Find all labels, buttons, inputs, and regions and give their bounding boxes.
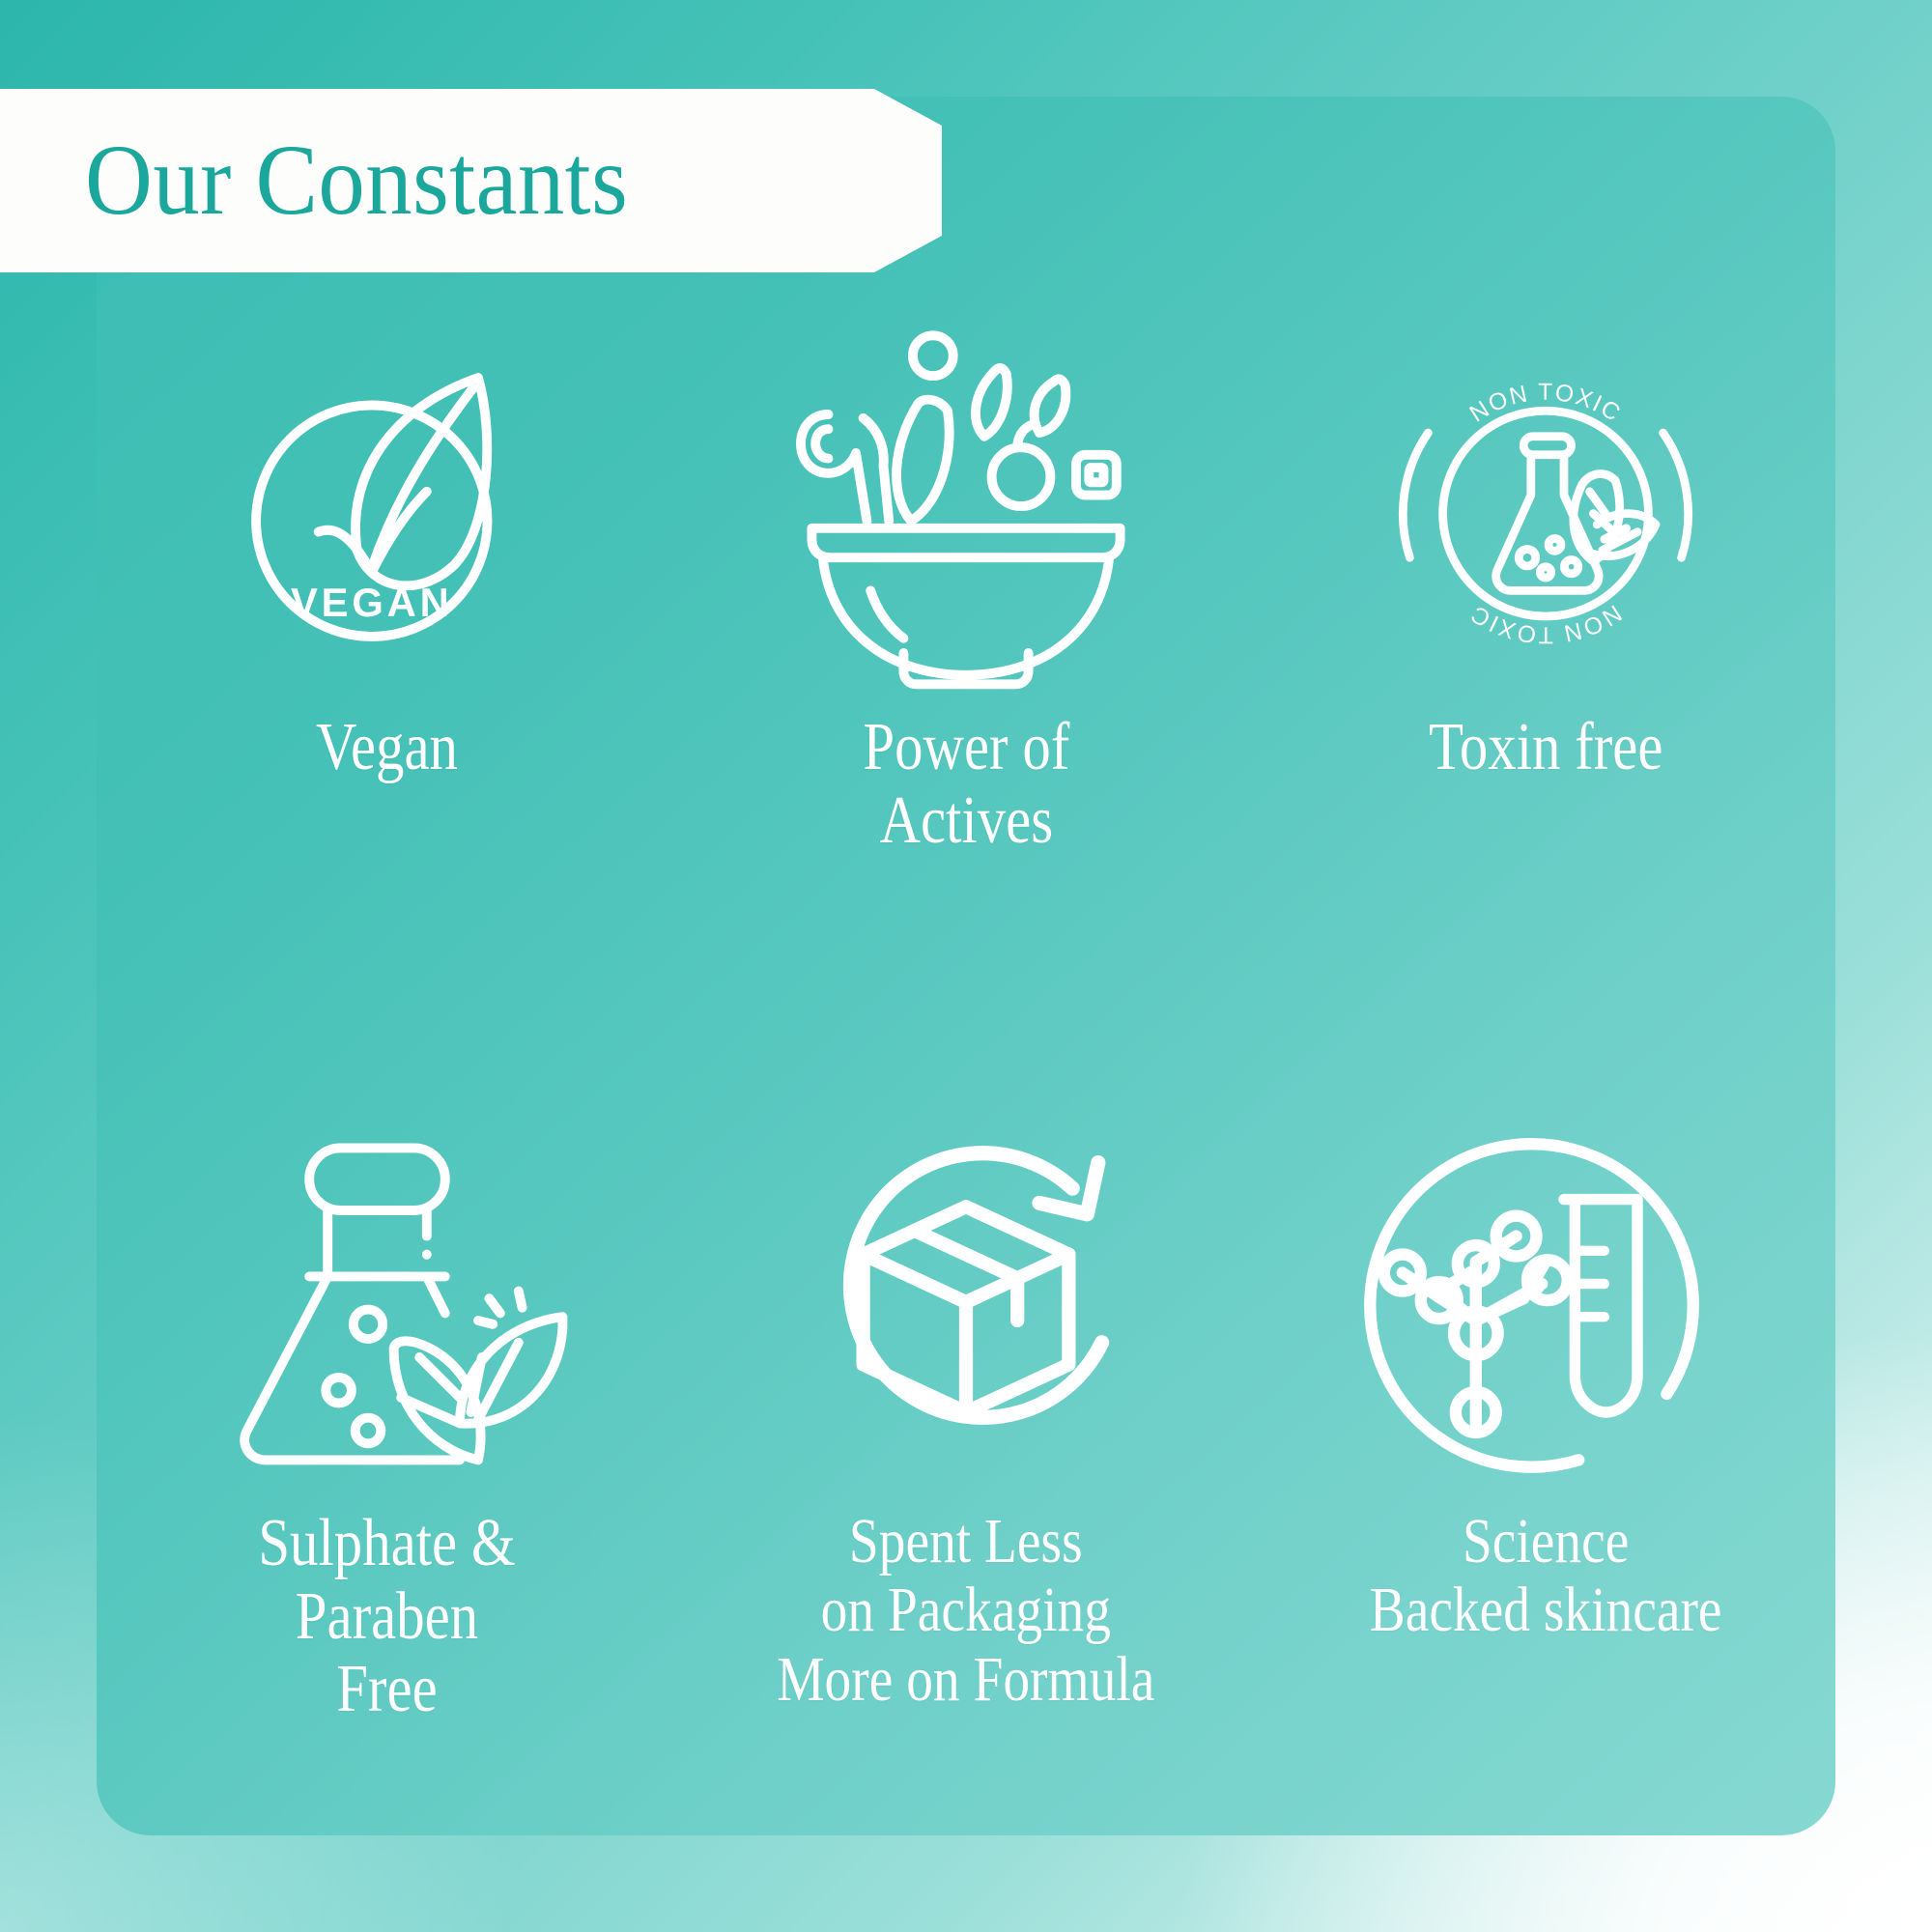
feature-packaging[interactable]: Spent Less on Packaging More on Formula <box>676 1043 1256 1797</box>
feature-science-backed[interactable]: Science Backed skincare <box>1256 1043 1835 1797</box>
feature-toxin-free[interactable]: NON TOXIC NON TOXIC Toxin free <box>1256 290 1835 1043</box>
vegan-leaf-check-badge-icon: VEGAN <box>203 323 570 690</box>
feature-label: Toxin free <box>1429 711 1662 784</box>
vegan-badge-word: VEGAN <box>291 580 453 625</box>
feature-label: Spent Less on Packaging More on Formula <box>777 1507 1154 1714</box>
feature-sulphate-paraben-free[interactable]: Sulphate & Paraben Free <box>97 1043 676 1797</box>
flask-with-leaves-icon <box>203 1119 570 1486</box>
poster-root: Our Constants VEGAN Vegan <box>0 0 1932 1932</box>
page-title: Our Constants <box>85 130 628 231</box>
feature-label: Power of Actives <box>863 711 1069 857</box>
non-toxic-arc-bottom-text: NON TOXIC <box>1465 599 1626 647</box>
feature-vegan[interactable]: VEGAN Vegan <box>97 290 676 1043</box>
non-toxic-arc-top-text: NON TOXIC <box>1465 380 1626 428</box>
feature-label: Vegan <box>316 711 458 784</box>
bowl-of-ingredients-icon <box>782 323 1150 690</box>
molecule-test-tube-icon <box>1362 1119 1729 1486</box>
feature-label: Sulphate & Paraben Free <box>258 1507 515 1726</box>
box-recycle-arrow-icon <box>782 1119 1150 1486</box>
title-banner: Our Constants <box>0 89 942 272</box>
features-grid: VEGAN Vegan <box>97 290 1835 1797</box>
non-toxic-flask-leaf-badge-icon: NON TOXIC NON TOXIC <box>1362 323 1729 690</box>
feature-label: Science Backed skincare <box>1370 1507 1722 1645</box>
feature-power-of-actives[interactable]: Power of Actives <box>676 290 1256 1043</box>
